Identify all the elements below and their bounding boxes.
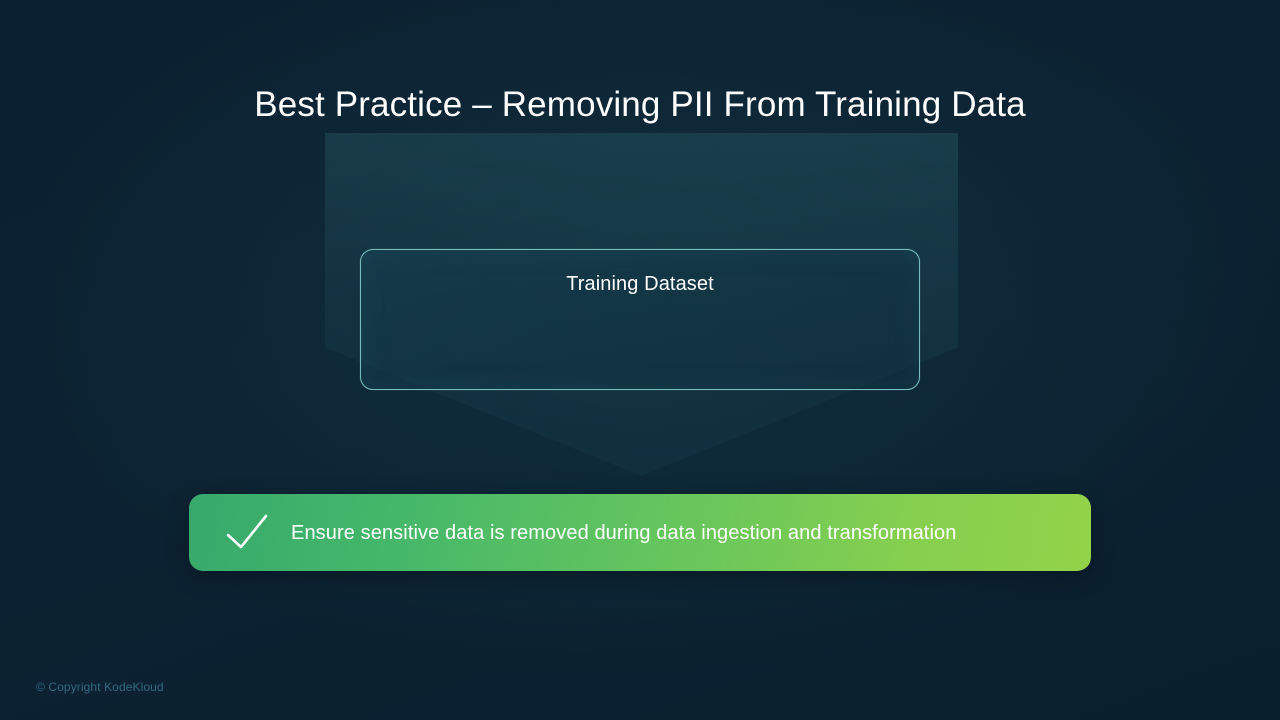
best-practice-banner: Ensure sensitive data is removed during … [189,494,1091,571]
training-dataset-card: Training Dataset [360,249,920,390]
training-dataset-label: Training Dataset [361,271,919,297]
page-title: Best Practice – Removing PII From Traini… [0,81,1280,129]
best-practice-text: Ensure sensitive data is removed during … [291,520,956,546]
copyright-notice: © Copyright KodeKloud [36,679,164,696]
check-icon [220,506,274,560]
slide-canvas: Best Practice – Removing PII From Traini… [0,0,1280,720]
